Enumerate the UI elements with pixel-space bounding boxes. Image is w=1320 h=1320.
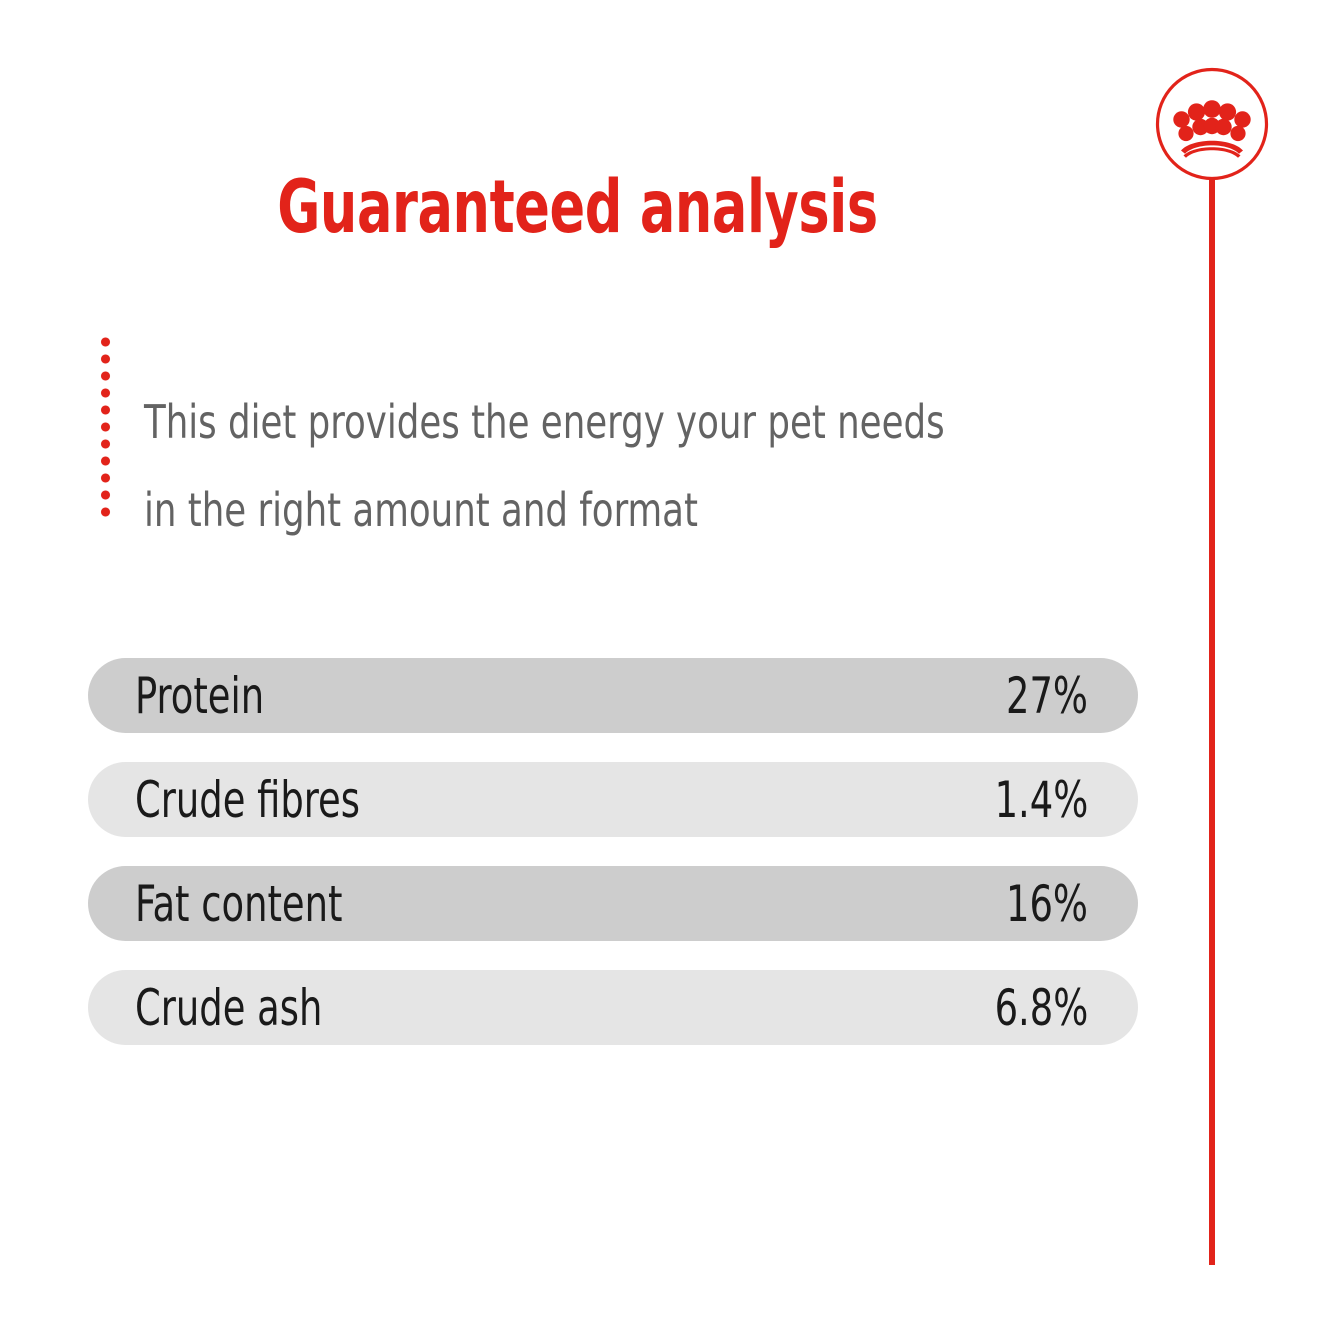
intro-line-2: in the right amount and format [144,466,966,554]
royal-canin-crown-icon [1155,67,1269,181]
nutrient-value: 27% [1006,669,1088,723]
table-row: Crude ash 6.8% [88,970,1138,1045]
table-row: Fat content 16% [88,866,1138,941]
nutrient-value: 16% [1006,877,1088,931]
nutrient-value: 1.4% [994,773,1088,827]
page-title: Guaranteed analysis [116,166,1040,250]
intro-line-1: This diet provides the energy your pet n… [144,378,966,466]
nutrient-label: Fat content [135,877,342,931]
table-row: Crude fibres 1.4% [88,762,1138,837]
guaranteed-analysis-panel: Guaranteed analysis This diet provides t… [0,0,1320,1320]
nutrient-label: Crude fibres [135,773,360,827]
dotted-vertical-rule-icon [100,334,111,522]
nutrient-value: 6.8% [994,981,1088,1035]
intro-text: This diet provides the energy your pet n… [144,378,966,554]
brand-vertical-rule [1209,180,1215,1265]
table-row: Protein 27% [88,658,1138,733]
nutrient-label: Protein [135,669,264,723]
intro-block: This diet provides the energy your pet n… [100,332,1100,600]
nutrient-label: Crude ash [135,981,322,1035]
analysis-table: Protein 27% Crude fibres 1.4% Fat conten… [88,658,1138,1045]
